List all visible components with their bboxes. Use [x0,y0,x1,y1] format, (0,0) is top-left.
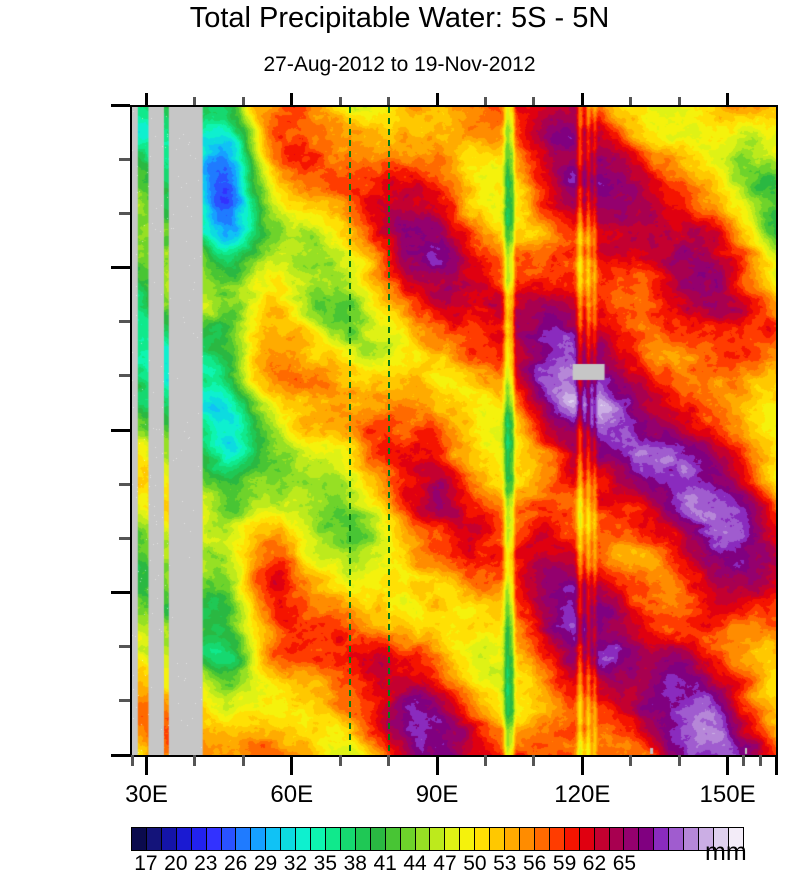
colorbar-tick-labels: 1720232629323538414447505356596265 [0,852,799,874]
colorbar-swatch [490,828,505,850]
colorbar-swatch [535,828,550,850]
colorbar-swatch [177,828,192,850]
y-axis-major-tick [111,754,130,757]
x-axis-minor-tick [484,755,487,766]
x-axis-minor-tick [629,755,632,766]
colorbar-swatch [296,828,311,850]
colorbar-swatch [580,828,595,850]
x-axis-labels: 30E60E90E120E150E [0,0,799,872]
x-axis-top-minor-tick [193,97,196,105]
x-axis-top-major-tick [145,93,148,105]
y-axis-major-tick [111,429,130,432]
colorbar [131,827,744,851]
colorbar-unit-label: mm [705,838,747,867]
colorbar-swatch [520,828,535,850]
colorbar-swatch [475,828,490,850]
x-axis-label: 30E [92,781,202,809]
colorbar-swatch [565,828,580,850]
colorbar-swatch [460,828,475,850]
x-axis-major-tick [581,755,584,775]
colorbar-swatch [624,828,639,850]
x-axis-minor-tick [193,755,196,766]
colorbar-swatch [341,828,356,850]
x-axis-top-minor-tick [484,97,487,105]
y-axis-minor-tick [119,374,130,377]
colorbar-swatch [147,828,162,850]
x-axis-label: 60E [237,781,347,809]
x-axis-major-tick [145,755,148,775]
y-axis-minor-tick [119,537,130,540]
y-axis-minor-tick [119,212,130,215]
colorbar-swatch [550,828,565,850]
x-axis-minor-tick [131,755,134,766]
x-axis-major-tick [775,755,778,775]
x-axis-top-major-tick [290,93,293,105]
x-axis-top-major-tick [726,93,729,105]
y-axis-minor-tick [119,320,130,323]
y-axis-major-tick [111,591,130,594]
x-axis-label: 90E [382,781,492,809]
colorbar-swatch [654,828,669,850]
colorbar-swatches [131,827,744,851]
y-axis-major-tick [111,104,130,107]
x-axis-minor-tick [242,755,245,766]
x-axis-minor-tick [339,755,342,766]
x-axis-label: 120E [527,781,637,809]
colorbar-swatch [669,828,684,850]
colorbar-swatch [401,828,416,850]
colorbar-swatch [595,828,610,850]
x-axis-top-major-tick [581,93,584,105]
x-axis-minor-tick [387,755,390,766]
x-axis-minor-tick [759,755,762,766]
colorbar-swatch [356,828,371,850]
x-axis-major-tick [436,755,439,775]
colorbar-tick-label: 65 [598,852,650,876]
x-axis-minor-tick [678,755,681,766]
x-axis-major-tick [726,755,729,775]
colorbar-swatch [266,828,281,850]
x-axis-minor-tick [532,755,535,766]
x-axis-top-minor-tick [387,97,390,105]
x-axis-label: 150E [673,781,783,809]
colorbar-swatch [192,828,207,850]
y-axis-minor-tick [119,158,130,161]
colorbar-swatch [162,828,177,850]
x-axis-top-minor-tick [629,97,632,105]
y-axis-minor-tick [119,645,130,648]
colorbar-swatch [326,828,341,850]
x-axis-top-major-tick [436,93,439,105]
colorbar-swatch [430,828,445,850]
colorbar-swatch [610,828,625,850]
colorbar-swatch [416,828,431,850]
x-axis-minor-tick [742,755,745,766]
colorbar-swatch [684,828,699,850]
y-axis-major-tick [111,266,130,269]
colorbar-swatch [222,828,237,850]
x-axis-major-tick [290,755,293,775]
colorbar-swatch [505,828,520,850]
colorbar-swatch [281,828,296,850]
colorbar-swatch [445,828,460,850]
colorbar-swatch [236,828,251,850]
colorbar-swatch [386,828,401,850]
colorbar-swatch [207,828,222,850]
x-axis-top-minor-tick [678,97,681,105]
y-axis-minor-tick [119,699,130,702]
colorbar-swatch [132,828,147,850]
colorbar-swatch [371,828,386,850]
y-axis-minor-tick [119,483,130,486]
colorbar-swatch [639,828,654,850]
x-axis-top-minor-tick [242,97,245,105]
x-axis-top-minor-tick [339,97,342,105]
x-axis-top-minor-tick [532,97,535,105]
colorbar-swatch [311,828,326,850]
colorbar-swatch [251,828,266,850]
